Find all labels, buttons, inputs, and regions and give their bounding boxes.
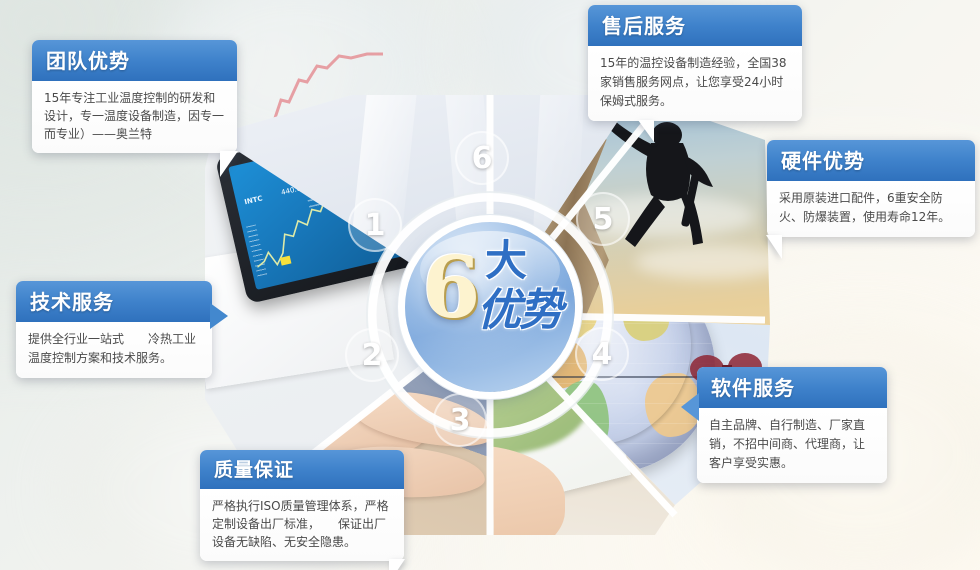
callout-software-tail <box>681 393 699 421</box>
callout-after-sales-tail <box>622 120 654 142</box>
callout-technical-service[interactable]: 技术服务 提供全行业一站式 冷热工业温度控制方案和技术服务。 <box>16 281 212 378</box>
segment-number-4[interactable]: 4 <box>575 327 629 381</box>
infographic-canvas: STOCK MARKET DATA INTC 440.00 <box>0 0 980 570</box>
callout-software-title: 软件服务 <box>697 367 887 408</box>
callout-after-sales[interactable]: 售后服务 15年的温控设备制造经验，全国38家销售服务网点，让您享受24小时保姆… <box>588 5 802 121</box>
segment-number-1[interactable]: 1 <box>348 198 402 252</box>
center-badge: 6 大 优势 <box>405 222 575 392</box>
callout-team-tail <box>220 151 238 177</box>
segment-number-2[interactable]: 2 <box>345 328 399 382</box>
callout-hardware-title: 硬件优势 <box>767 140 975 181</box>
callout-after-sales-body: 15年的温控设备制造经验，全国38家销售服务网点，让您享受24小时保姆式服务。 <box>588 46 802 121</box>
segment-number-3[interactable]: 3 <box>433 393 487 447</box>
segment-number-6[interactable]: 6 <box>455 131 509 185</box>
callout-team-title: 团队优势 <box>32 40 237 81</box>
callout-hardware-body: 采用原装进口配件，6重安全防火、防爆装置，使用寿命12年。 <box>767 181 975 237</box>
callout-technical-title: 技术服务 <box>16 281 212 322</box>
callout-quality-tail <box>389 559 405 570</box>
callout-quality-assurance[interactable]: 质量保证 严格执行ISO质量管理体系，严格定制设备出厂标准， 保证出厂设备无缺陷… <box>200 450 404 561</box>
callout-software-body: 自主品牌、自行制造、厂家直销，不招中间商、代理商，让客户享受实惠。 <box>697 408 887 483</box>
segment-number-5[interactable]: 5 <box>576 192 630 246</box>
center-word: 优势 <box>477 288 561 334</box>
callout-technical-body: 提供全行业一站式 冷热工业温度控制方案和技术服务。 <box>16 322 212 378</box>
center-unit: 大 <box>485 240 527 282</box>
center-number: 6 <box>422 246 480 330</box>
callout-technical-tail <box>210 303 228 329</box>
callout-team-body: 15年专注工业温度控制的研发和设计，专一温度设备制造，因专一而专业）——奥兰特 <box>32 81 237 153</box>
callout-quality-body: 严格执行ISO质量管理体系，严格定制设备出厂标准， 保证出厂设备无缺陷、无安全隐… <box>200 489 404 561</box>
callout-team-advantage[interactable]: 团队优势 15年专注工业温度控制的研发和设计，专一温度设备制造，因专一而专业）—… <box>32 40 237 153</box>
callout-after-sales-title: 售后服务 <box>588 5 802 46</box>
callout-hardware-tail <box>766 235 782 259</box>
callout-hardware-advantage[interactable]: 硬件优势 采用原装进口配件，6重安全防火、防爆装置，使用寿命12年。 <box>767 140 975 237</box>
callout-software-service[interactable]: 软件服务 自主品牌、自行制造、厂家直销，不招中间商、代理商，让客户享受实惠。 <box>697 367 887 483</box>
callout-quality-title: 质量保证 <box>200 450 404 489</box>
